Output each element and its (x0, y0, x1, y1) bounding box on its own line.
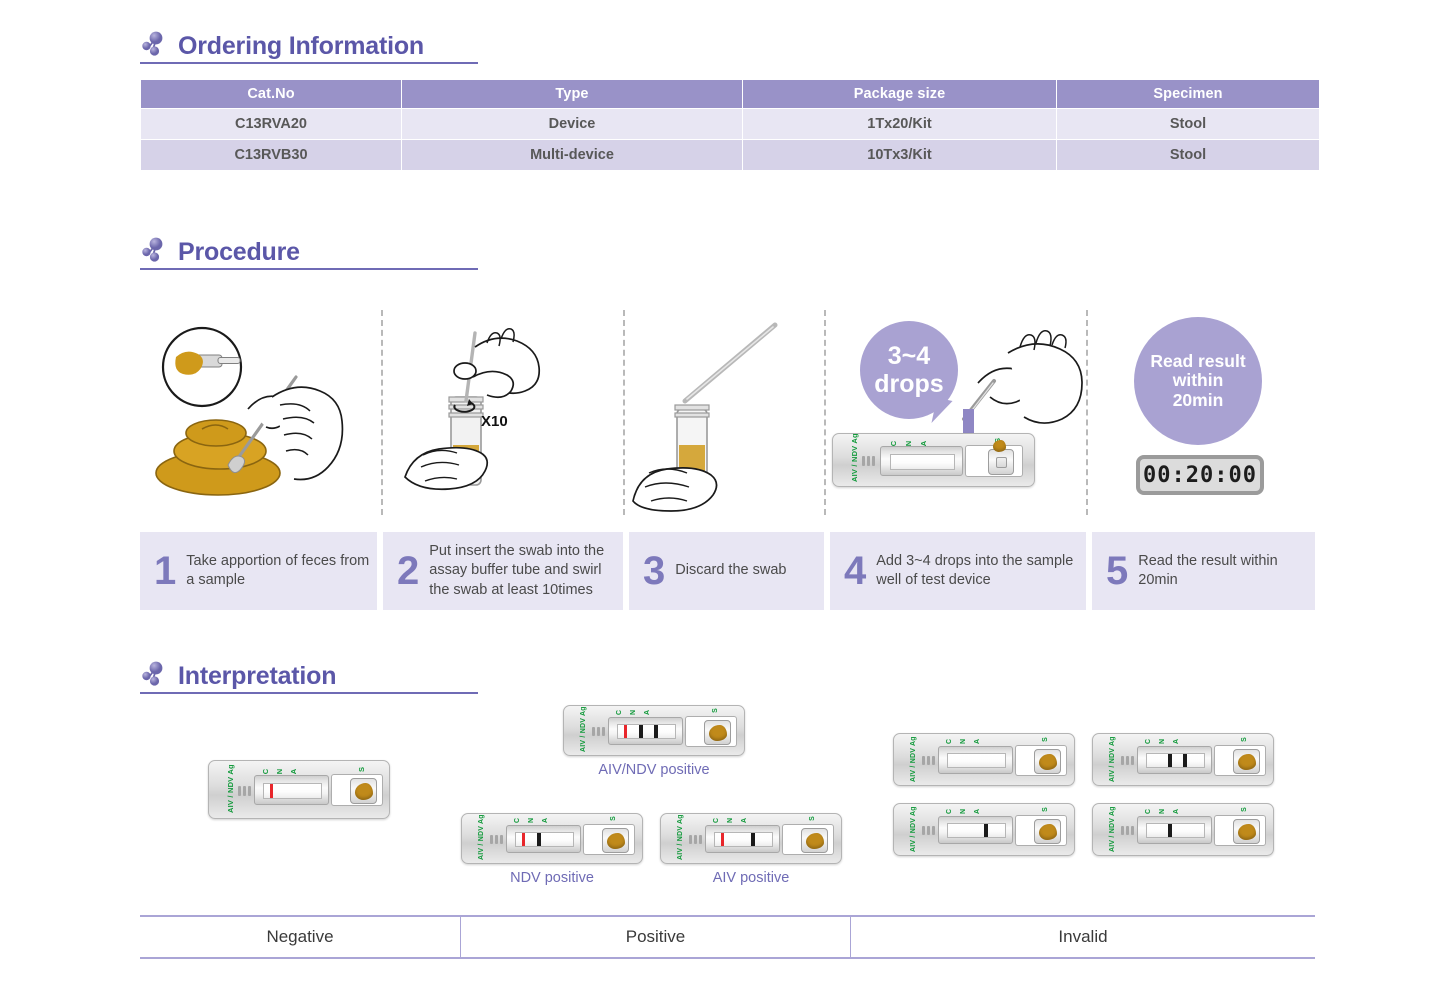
band-ndv (639, 725, 643, 738)
device-strip (617, 724, 676, 739)
device-well-area (782, 824, 834, 855)
device-result-window (880, 446, 963, 476)
drops-bubble-line-2: drops (874, 370, 943, 398)
discard-swab-illustration (625, 305, 824, 520)
device-sample-well-inner (996, 457, 1007, 468)
device-ndv-positive: AIV / NDV Ag C N A S (461, 813, 643, 864)
ordering-information-table: Cat.No Type Package size Specimen C13RVA… (140, 79, 1320, 171)
illustration-step-5: Read result within 20min 00:20:00 (1088, 305, 1315, 520)
step-text: Add 3~4 drops into the sample well of te… (876, 552, 1086, 590)
marker-a: A (741, 818, 748, 823)
band-control (624, 725, 627, 738)
column-header-type: Type (402, 80, 742, 108)
device-well-area (1015, 815, 1067, 846)
device-vents-icon (689, 835, 702, 844)
marker-a: A (542, 818, 549, 823)
device-negative: AIV / NDV Ag C N A S (208, 760, 390, 819)
marker-c: C (946, 809, 953, 814)
label-aiv-positive: AIV positive (660, 870, 842, 886)
cell-specimen: Stool (1057, 109, 1319, 139)
interpretation-section: Interpretation (140, 660, 478, 694)
section-title: Interpretation (178, 663, 336, 689)
sample-drop (709, 725, 727, 741)
band-aiv (654, 725, 658, 738)
device-well-area (583, 824, 635, 855)
marker-n: N (960, 809, 967, 814)
marker-s: S (357, 767, 366, 772)
marker-a: A (1173, 809, 1180, 814)
illustration-step-3 (625, 305, 824, 520)
marker-c: C (514, 818, 521, 823)
interpretation-heading: Interpretation (140, 660, 478, 694)
column-header-specimen: Specimen (1057, 80, 1319, 108)
device-strip (947, 823, 1006, 838)
cell-type: Device (402, 109, 742, 139)
device-strip (714, 832, 773, 847)
sample-drop (806, 833, 824, 849)
marker-c: C (1145, 809, 1152, 814)
marker-n: N (1159, 739, 1166, 744)
device-vents-icon (922, 756, 935, 765)
marker-a: A (919, 441, 928, 446)
datasheet-page: Ordering Information Cat.No Type Package… (0, 0, 1433, 992)
procedure-step-2: 2 Put insert the swab into the assay buf… (383, 532, 623, 610)
device-aiv-ndv-positive: AIV / NDV Ag C N A S (563, 705, 745, 756)
device-strip (1146, 823, 1205, 838)
ordering-information-section: Ordering Information (140, 30, 478, 64)
procedure-step-3: 3 Discard the swab (629, 532, 824, 610)
cell-package-size: 10Tx3/Kit (743, 140, 1056, 170)
sample-drop (1238, 824, 1256, 840)
marker-c: C (261, 769, 270, 774)
device-sample-well (1034, 819, 1061, 844)
illustration-step-1 (140, 305, 381, 520)
section-title: Procedure (178, 239, 300, 265)
sample-drop (1238, 754, 1256, 770)
step-text: Read the result within 20min (1138, 552, 1315, 590)
sample-drop (993, 440, 1006, 452)
procedure-step-5: 5 Read the result within 20min (1092, 532, 1315, 610)
marker-a: A (1173, 739, 1180, 744)
band-control (721, 833, 724, 846)
cell-cat-no: C13RVB30 (141, 140, 401, 170)
illustration-step-2: X10 (383, 305, 623, 520)
device-vents-icon (238, 786, 251, 796)
device-well-area (1015, 745, 1067, 776)
band-ndv (537, 833, 541, 846)
marker-a: A (644, 710, 651, 715)
device-result-window (1137, 816, 1212, 844)
cell-cat-no: C13RVA20 (141, 109, 401, 139)
marker-c: C (946, 739, 953, 744)
cell-package-size: 1Tx20/Kit (743, 109, 1056, 139)
molecule-icon (140, 660, 168, 689)
device-strip (947, 753, 1006, 768)
cell-type: Multi-device (402, 140, 742, 170)
marker-n: N (727, 818, 734, 823)
result-column-invalid: Invalid (851, 917, 1315, 957)
marker-n: N (960, 739, 967, 744)
band-control (522, 833, 525, 846)
label-aiv-ndv-positive: AIV/NDV positive (563, 762, 745, 778)
column-header-package-size: Package size (743, 80, 1056, 108)
illustration-step-4: 3~4 drops AIV / NDV (826, 305, 1086, 520)
device-result-window (506, 825, 581, 853)
step-text: Discard the swab (675, 561, 786, 580)
sample-drop (1039, 824, 1057, 840)
marker-c: C (889, 441, 898, 446)
step-number: 3 (643, 551, 665, 591)
device-well-area (1214, 745, 1266, 776)
read-bubble-line-3: 20min (1173, 390, 1224, 410)
marker-a: A (289, 769, 298, 774)
band-aiv (984, 824, 988, 837)
table-header-row: Cat.No Type Package size Specimen (141, 80, 1319, 108)
marker-s: S (1241, 737, 1248, 742)
marker-s: S (1042, 737, 1049, 742)
sample-drop (607, 833, 625, 849)
test-device-step4: AIV / NDV Ag C N A S (832, 433, 1035, 487)
device-sample-well (704, 720, 731, 745)
device-sample-well (1233, 819, 1260, 844)
device-brand-label: AIV / NDV Ag (677, 814, 684, 860)
device-brand-label: AIV / NDV Ag (850, 433, 859, 482)
procedure-section: Procedure (140, 236, 478, 270)
read-bubble-line-1: Read result (1150, 351, 1245, 371)
device-invalid-4: AIV / NDV Ag C N A S (1092, 803, 1274, 856)
molecule-icon (140, 236, 168, 265)
device-brand-label: AIV / NDV Ag (1109, 736, 1116, 782)
device-invalid-2: AIV / NDV Ag C N A S (1092, 733, 1274, 786)
sample-drop (1039, 754, 1057, 770)
procedure-heading: Procedure (140, 236, 478, 270)
step-number: 4 (844, 551, 866, 591)
device-brand-label: AIV / NDV Ag (226, 764, 235, 813)
device-well-area (1214, 815, 1266, 846)
device-result-window (1137, 746, 1212, 774)
result-column-negative: Negative (140, 917, 461, 957)
collect-feces-illustration (140, 305, 381, 520)
marker-s: S (1241, 807, 1248, 812)
device-brand-label: AIV / NDV Ag (478, 814, 485, 860)
device-strip (890, 454, 955, 470)
device-sample-well (1034, 749, 1061, 774)
band-ndv (1168, 824, 1172, 837)
marker-s: S (610, 816, 617, 821)
device-vents-icon (1121, 756, 1134, 765)
marker-s: S (712, 708, 719, 713)
device-result-window (254, 775, 329, 805)
label-ndv-positive: NDV positive (461, 870, 643, 886)
device-sample-well (801, 828, 828, 853)
result-classification-row: Negative Positive Invalid (140, 915, 1315, 959)
marker-s: S (809, 816, 816, 821)
read-bubble-line-2: within (1173, 370, 1224, 390)
read-result-callout-bubble: Read result within 20min (1134, 317, 1262, 445)
device-strip (1146, 753, 1205, 768)
procedure-step-1: 1 Take apportion of feces from a sample (140, 532, 377, 610)
marker-a: A (974, 739, 981, 744)
marker-a: A (974, 809, 981, 814)
device-brand-label: AIV / NDV Ag (1109, 806, 1116, 852)
marker-n: N (1159, 809, 1166, 814)
step-number: 2 (397, 551, 419, 591)
device-brand-label: AIV / NDV Ag (580, 706, 587, 752)
device-brand-label: AIV / NDV Ag (910, 806, 917, 852)
device-vents-icon (922, 826, 935, 835)
device-sample-well (602, 828, 629, 853)
procedure-step-4: 4 Add 3~4 drops into the sample well of … (830, 532, 1086, 610)
procedure-illustrations: X10 3~4 drops (140, 305, 1315, 520)
procedure-steps: 1 Take apportion of feces from a sample … (140, 532, 1315, 610)
column-header-cat-no: Cat.No (141, 80, 401, 108)
marker-c: C (713, 818, 720, 823)
device-aiv-positive: AIV / NDV Ag C N A S (660, 813, 842, 864)
timer-display: 00:20:00 (1136, 455, 1264, 495)
swirl-count-label: X10 (481, 413, 508, 430)
marker-n: N (904, 441, 913, 446)
section-title: Ordering Information (178, 33, 424, 59)
device-strip (515, 832, 574, 847)
device-well-area (331, 774, 383, 806)
molecule-icon (140, 30, 168, 59)
result-column-positive: Positive (461, 917, 851, 957)
marker-s: S (1042, 807, 1049, 812)
marker-c: C (616, 710, 623, 715)
cell-specimen: Stool (1057, 140, 1319, 170)
band-aiv (1183, 754, 1187, 767)
ordering-information-heading: Ordering Information (140, 30, 478, 64)
band-aiv (751, 833, 755, 846)
device-vents-icon (862, 456, 875, 466)
device-result-window (938, 746, 1013, 774)
device-vents-icon (490, 835, 503, 844)
table-row: C13RVA20 Device 1Tx20/Kit Stool (141, 109, 1319, 139)
band-control (270, 784, 273, 798)
device-result-window (705, 825, 780, 853)
step-number: 1 (154, 551, 176, 591)
device-result-window (938, 816, 1013, 844)
step-number: 5 (1106, 551, 1128, 591)
drops-bubble-line-1: 3~4 (888, 342, 930, 370)
device-sample-well (988, 449, 1014, 475)
step-text: Put insert the swab into the assay buffe… (429, 542, 623, 599)
device-sample-well (1233, 749, 1260, 774)
device-invalid-3: AIV / NDV Ag C N A S (893, 803, 1075, 856)
marker-n: N (528, 818, 535, 823)
device-brand-label: AIV / NDV Ag (910, 736, 917, 782)
step-text: Take apportion of feces from a sample (186, 552, 377, 590)
device-sample-well (350, 778, 377, 804)
device-invalid-1: AIV / NDV Ag C N A S (893, 733, 1075, 786)
sample-drop (355, 783, 373, 800)
marker-n: N (630, 710, 637, 715)
device-vents-icon (592, 727, 605, 736)
device-strip (263, 783, 322, 799)
device-result-window (608, 717, 683, 745)
marker-c: C (1145, 739, 1152, 744)
band-ndv (1168, 754, 1172, 767)
device-well-area (685, 716, 737, 747)
marker-n: N (275, 769, 284, 774)
device-vents-icon (1121, 826, 1134, 835)
table-row: C13RVB30 Multi-device 10Tx3/Kit Stool (141, 140, 1319, 170)
